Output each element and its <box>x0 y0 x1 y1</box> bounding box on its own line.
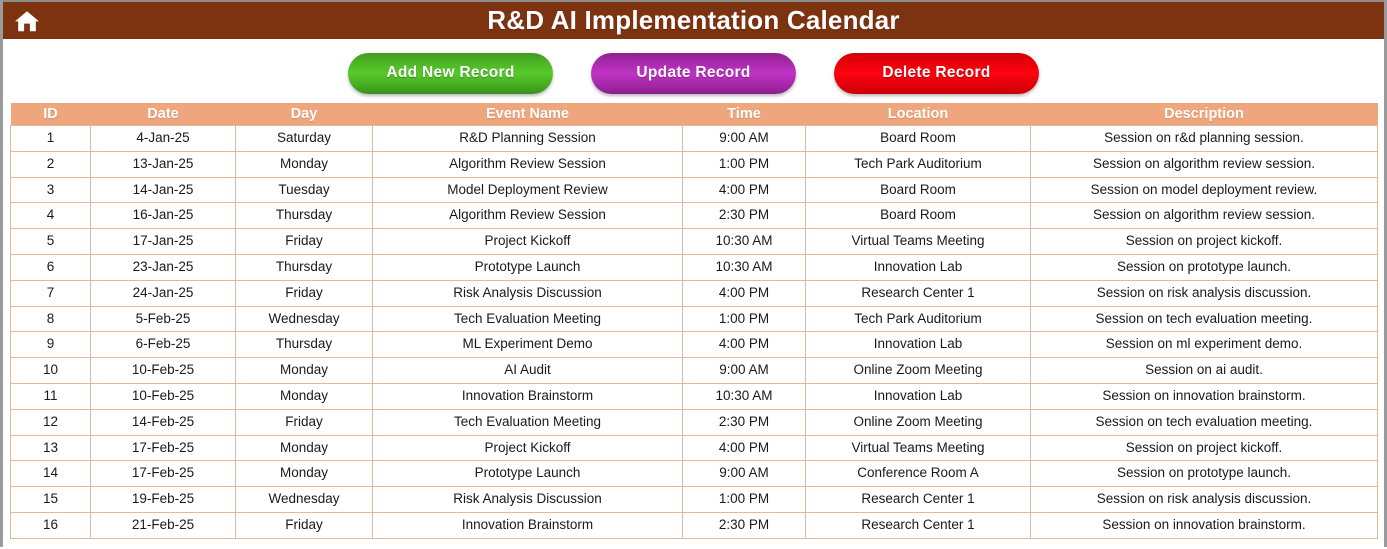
app-title-bar: R&D AI Implementation Calendar <box>3 0 1384 39</box>
cell-time[interactable]: 4:00 PM <box>683 435 806 461</box>
cell-time[interactable]: 1:00 PM <box>683 306 806 332</box>
cell-day[interactable]: Monday <box>236 151 373 177</box>
cell-location[interactable]: Innovation Lab <box>806 383 1031 409</box>
cell-location[interactable]: Research Center 1 <box>806 280 1031 306</box>
calendar-app: R&D AI Implementation Calendar Add New R… <box>0 0 1387 547</box>
cell-description[interactable]: Session on model deployment review. <box>1031 177 1378 203</box>
table-row[interactable]: 85-Feb-25WednesdayTech Evaluation Meetin… <box>11 306 1378 332</box>
records-table-container: ID Date Day Event Name Time Location Des… <box>3 103 1384 539</box>
cell-date[interactable]: 5-Feb-25 <box>91 306 236 332</box>
column-header-day[interactable]: Day <box>236 103 373 126</box>
cell-event-name[interactable]: Risk Analysis Discussion <box>373 487 683 513</box>
cell-id[interactable]: 3 <box>11 177 91 203</box>
cell-event-name[interactable]: Innovation Brainstorm <box>373 383 683 409</box>
cell-date[interactable]: 6-Feb-25 <box>91 332 236 358</box>
cell-day[interactable]: Friday <box>236 229 373 255</box>
cell-id[interactable]: 16 <box>11 512 91 538</box>
cell-date[interactable]: 17-Feb-25 <box>91 461 236 487</box>
cell-location[interactable]: Online Zoom Meeting <box>806 358 1031 384</box>
cell-date[interactable]: 21-Feb-25 <box>91 512 236 538</box>
record-action-toolbar: Add New Record Update Record Delete Reco… <box>3 39 1384 103</box>
cell-id[interactable]: 6 <box>11 254 91 280</box>
cell-location[interactable]: Virtual Teams Meeting <box>806 229 1031 255</box>
cell-location[interactable]: Research Center 1 <box>806 487 1031 513</box>
table-header: ID Date Day Event Name Time Location Des… <box>11 103 1378 126</box>
cell-description[interactable]: Session on project kickoff. <box>1031 435 1378 461</box>
table-row[interactable]: 1010-Feb-25MondayAI Audit9:00 AMOnline Z… <box>11 358 1378 384</box>
cell-description[interactable]: Session on project kickoff. <box>1031 229 1378 255</box>
cell-time[interactable]: 1:00 PM <box>683 487 806 513</box>
cell-description[interactable]: Session on risk analysis discussion. <box>1031 487 1378 513</box>
add-new-record-button[interactable]: Add New Record <box>348 53 553 94</box>
cell-event-name[interactable]: Prototype Launch <box>373 254 683 280</box>
cell-date[interactable]: 10-Feb-25 <box>91 383 236 409</box>
cell-id[interactable]: 5 <box>11 229 91 255</box>
cell-event-name[interactable]: Risk Analysis Discussion <box>373 280 683 306</box>
cell-location[interactable]: Tech Park Auditorium <box>806 306 1031 332</box>
cell-date[interactable]: 14-Feb-25 <box>91 409 236 435</box>
cell-day[interactable]: Friday <box>236 512 373 538</box>
cell-time[interactable]: 10:30 AM <box>683 229 806 255</box>
cell-time[interactable]: 2:30 PM <box>683 512 806 538</box>
cell-id[interactable]: 2 <box>11 151 91 177</box>
table-row[interactable]: 1214-Feb-25FridayTech Evaluation Meeting… <box>11 409 1378 435</box>
table-row[interactable]: 1519-Feb-25WednesdayRisk Analysis Discus… <box>11 487 1378 513</box>
cell-id[interactable]: 10 <box>11 358 91 384</box>
cell-day[interactable]: Thursday <box>236 332 373 358</box>
cell-day[interactable]: Saturday <box>236 126 373 152</box>
cell-id[interactable]: 1 <box>11 126 91 152</box>
cell-date[interactable]: 4-Jan-25 <box>91 126 236 152</box>
table-body: 14-Jan-25SaturdayR&D Planning Session9:0… <box>11 126 1378 539</box>
cell-time[interactable]: 2:30 PM <box>683 203 806 229</box>
cell-description[interactable]: Session on prototype launch. <box>1031 461 1378 487</box>
cell-time[interactable]: 9:00 AM <box>683 126 806 152</box>
cell-day[interactable]: Thursday <box>236 254 373 280</box>
cell-location[interactable]: Innovation Lab <box>806 332 1031 358</box>
table-row[interactable]: 517-Jan-25FridayProject Kickoff10:30 AMV… <box>11 229 1378 255</box>
cell-time[interactable]: 4:00 PM <box>683 177 806 203</box>
cell-description[interactable]: Session on algorithm review session. <box>1031 151 1378 177</box>
cell-day[interactable]: Wednesday <box>236 306 373 332</box>
cell-description[interactable]: Session on innovation brainstorm. <box>1031 512 1378 538</box>
cell-day[interactable]: Friday <box>236 409 373 435</box>
cell-location[interactable]: Research Center 1 <box>806 512 1031 538</box>
cell-event-name[interactable]: ML Experiment Demo <box>373 332 683 358</box>
cell-time[interactable]: 2:30 PM <box>683 409 806 435</box>
cell-date[interactable]: 16-Jan-25 <box>91 203 236 229</box>
cell-description[interactable]: Session on algorithm review session. <box>1031 203 1378 229</box>
cell-date[interactable]: 24-Jan-25 <box>91 280 236 306</box>
cell-day[interactable]: Monday <box>236 383 373 409</box>
cell-day[interactable]: Friday <box>236 280 373 306</box>
cell-id[interactable]: 14 <box>11 461 91 487</box>
cell-description[interactable]: Session on tech evaluation meeting. <box>1031 409 1378 435</box>
table-row[interactable]: 14-Jan-25SaturdayR&D Planning Session9:0… <box>11 126 1378 152</box>
table-row[interactable]: 96-Feb-25ThursdayML Experiment Demo4:00 … <box>11 332 1378 358</box>
cell-day[interactable]: Monday <box>236 435 373 461</box>
cell-location[interactable]: Conference Room A <box>806 461 1031 487</box>
cell-location[interactable]: Board Room <box>806 126 1031 152</box>
home-button[interactable] <box>3 2 51 39</box>
cell-event-name[interactable]: Model Deployment Review <box>373 177 683 203</box>
table-row[interactable]: 1417-Feb-25MondayPrototype Launch9:00 AM… <box>11 461 1378 487</box>
column-header-date[interactable]: Date <box>91 103 236 126</box>
cell-id[interactable]: 9 <box>11 332 91 358</box>
cell-date[interactable]: 23-Jan-25 <box>91 254 236 280</box>
records-table: ID Date Day Event Name Time Location Des… <box>10 103 1378 539</box>
cell-event-name[interactable]: Project Kickoff <box>373 435 683 461</box>
cell-location[interactable]: Virtual Teams Meeting <box>806 435 1031 461</box>
table-row[interactable]: 1317-Feb-25MondayProject Kickoff4:00 PMV… <box>11 435 1378 461</box>
cell-day[interactable]: Thursday <box>236 203 373 229</box>
column-header-location[interactable]: Location <box>806 103 1031 126</box>
cell-id[interactable]: 7 <box>11 280 91 306</box>
cell-id[interactable]: 13 <box>11 435 91 461</box>
bottom-spacer <box>3 539 1384 549</box>
cell-day[interactable]: Tuesday <box>236 177 373 203</box>
cell-id[interactable]: 11 <box>11 383 91 409</box>
cell-id[interactable]: 12 <box>11 409 91 435</box>
cell-event-name[interactable]: Algorithm Review Session <box>373 151 683 177</box>
cell-time[interactable]: 9:00 AM <box>683 461 806 487</box>
cell-description[interactable]: Session on r&d planning session. <box>1031 126 1378 152</box>
cell-time[interactable]: 4:00 PM <box>683 280 806 306</box>
cell-time[interactable]: 10:30 AM <box>683 254 806 280</box>
table-row[interactable]: 416-Jan-25ThursdayAlgorithm Review Sessi… <box>11 203 1378 229</box>
table-row[interactable]: 724-Jan-25FridayRisk Analysis Discussion… <box>11 280 1378 306</box>
cell-description[interactable]: Session on tech evaluation meeting. <box>1031 306 1378 332</box>
cell-event-name[interactable]: Tech Evaluation Meeting <box>373 409 683 435</box>
cell-location[interactable]: Board Room <box>806 203 1031 229</box>
cell-id[interactable]: 15 <box>11 487 91 513</box>
cell-description[interactable]: Session on ml experiment demo. <box>1031 332 1378 358</box>
cell-id[interactable]: 8 <box>11 306 91 332</box>
cell-description[interactable]: Session on prototype launch. <box>1031 254 1378 280</box>
column-header-time[interactable]: Time <box>683 103 806 126</box>
page-title: R&D AI Implementation Calendar <box>3 2 1384 39</box>
cell-event-name[interactable]: Innovation Brainstorm <box>373 512 683 538</box>
cell-id[interactable]: 4 <box>11 203 91 229</box>
cell-event-name[interactable]: Tech Evaluation Meeting <box>373 306 683 332</box>
cell-time[interactable]: 1:00 PM <box>683 151 806 177</box>
cell-time[interactable]: 4:00 PM <box>683 332 806 358</box>
cell-date[interactable]: 13-Jan-25 <box>91 151 236 177</box>
cell-location[interactable]: Tech Park Auditorium <box>806 151 1031 177</box>
cell-date[interactable]: 17-Jan-25 <box>91 229 236 255</box>
cell-date[interactable]: 19-Feb-25 <box>91 487 236 513</box>
cell-date[interactable]: 17-Feb-25 <box>91 435 236 461</box>
cell-description[interactable]: Session on risk analysis discussion. <box>1031 280 1378 306</box>
table-row[interactable]: 623-Jan-25ThursdayPrototype Launch10:30 … <box>11 254 1378 280</box>
cell-location[interactable]: Online Zoom Meeting <box>806 409 1031 435</box>
table-row[interactable]: 1621-Feb-25FridayInnovation Brainstorm2:… <box>11 512 1378 538</box>
column-header-event-name[interactable]: Event Name <box>373 103 683 126</box>
update-record-button[interactable]: Update Record <box>591 53 796 94</box>
cell-date[interactable]: 10-Feb-25 <box>91 358 236 384</box>
cell-event-name[interactable]: Algorithm Review Session <box>373 203 683 229</box>
cell-time[interactable]: 9:00 AM <box>683 358 806 384</box>
cell-day[interactable]: Monday <box>236 358 373 384</box>
column-header-id[interactable]: ID <box>11 103 91 126</box>
delete-record-button[interactable]: Delete Record <box>834 53 1039 94</box>
cell-day[interactable]: Monday <box>236 461 373 487</box>
cell-day[interactable]: Wednesday <box>236 487 373 513</box>
home-icon <box>14 9 40 33</box>
cell-description[interactable]: Session on innovation brainstorm. <box>1031 383 1378 409</box>
cell-location[interactable]: Innovation Lab <box>806 254 1031 280</box>
cell-event-name[interactable]: Project Kickoff <box>373 229 683 255</box>
cell-date[interactable]: 14-Jan-25 <box>91 177 236 203</box>
cell-time[interactable]: 10:30 AM <box>683 383 806 409</box>
cell-event-name[interactable]: AI Audit <box>373 358 683 384</box>
cell-event-name[interactable]: R&D Planning Session <box>373 126 683 152</box>
table-row[interactable]: 1110-Feb-25MondayInnovation Brainstorm10… <box>11 383 1378 409</box>
table-row[interactable]: 314-Jan-25TuesdayModel Deployment Review… <box>11 177 1378 203</box>
column-header-description[interactable]: Description <box>1031 103 1378 126</box>
table-header-row: ID Date Day Event Name Time Location Des… <box>11 103 1378 126</box>
cell-description[interactable]: Session on ai audit. <box>1031 358 1378 384</box>
cell-location[interactable]: Board Room <box>806 177 1031 203</box>
table-row[interactable]: 213-Jan-25MondayAlgorithm Review Session… <box>11 151 1378 177</box>
cell-event-name[interactable]: Prototype Launch <box>373 461 683 487</box>
